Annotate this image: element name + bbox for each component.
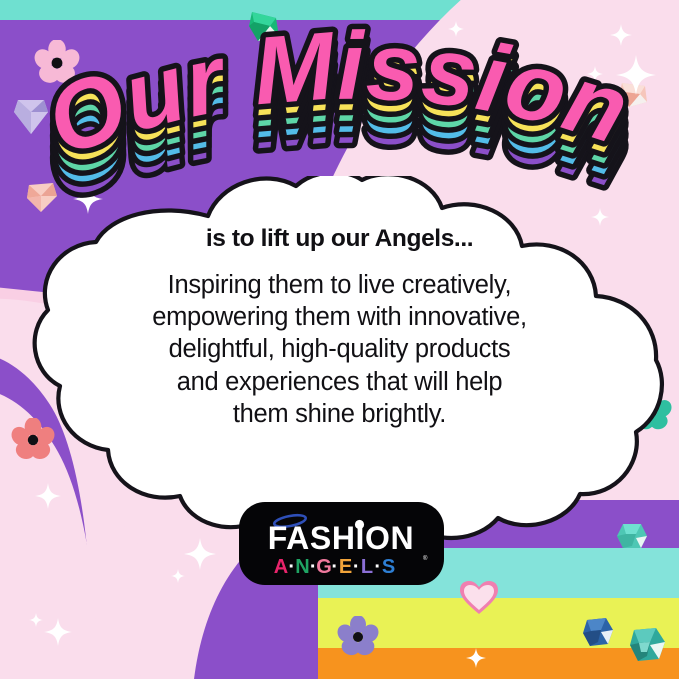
fashion-angels-logo[interactable]: FASHION A·N·G·E·L·S ® [239, 502, 444, 585]
logo-letter-g: G [316, 556, 332, 578]
cloud-body-line: them shine brightly. [152, 398, 527, 430]
logo-letter-separator: · [288, 556, 295, 578]
cloud-headline: is to lift up our Angels... [206, 226, 473, 253]
logo-letter-a: A [274, 556, 288, 578]
logo-letter-l: L [361, 556, 373, 578]
mission-poster: Our MissionOur MissionOur MissionOur Mis… [0, 0, 679, 679]
cloud-body-line: Inspiring them to live creatively, [152, 269, 527, 301]
cloud-body-line: delightful, high-quality products [152, 333, 527, 365]
logo-letter-n: N [295, 556, 309, 578]
logo-letter-separator: · [353, 556, 360, 578]
cloud-text-block: is to lift up our Angels... Inspiring th… [8, 176, 671, 546]
logo-letter-separator: · [331, 556, 338, 578]
logo-i-dot [355, 520, 364, 529]
cloud-body-line: empowering them with innovative, [152, 301, 527, 333]
logo-letter-s: S [382, 556, 395, 578]
cloud-body: Inspiring them to live creatively,empowe… [152, 269, 527, 430]
logo-letter-e: E [339, 556, 352, 578]
cloud-body-line: and experiences that will help [152, 366, 527, 398]
logo-secondary-text: A·N·G·E·L·S [274, 556, 395, 578]
logo-artwork: FASHION A·N·G·E·L·S ® [239, 502, 444, 585]
logo-primary-text: FASHION [268, 520, 414, 556]
registered-mark: ® [423, 555, 428, 562]
logo-letter-separator: · [374, 556, 381, 578]
